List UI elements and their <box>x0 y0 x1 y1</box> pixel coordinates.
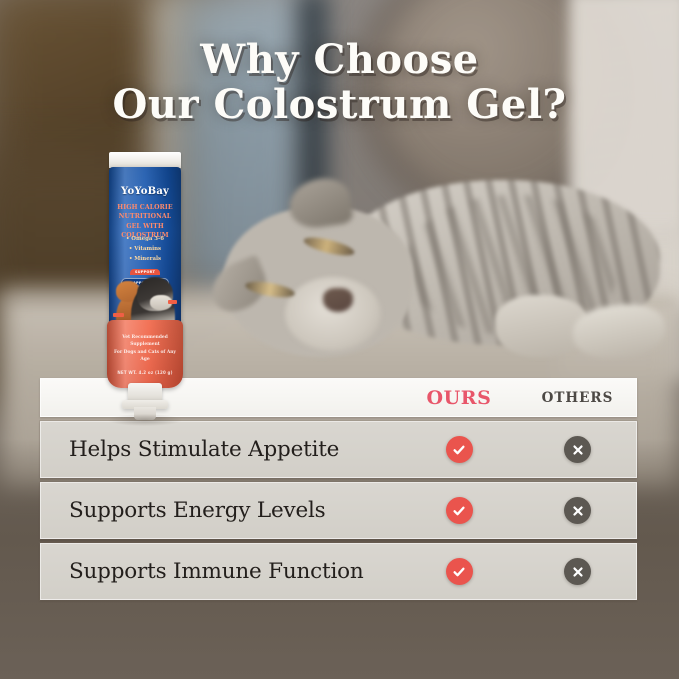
band-line-1: Vet Recommended Supplement <box>111 334 179 349</box>
tube-cat-collar <box>113 313 124 317</box>
ours-cell <box>399 497 519 524</box>
product-tube: YoYoBay HIGH CALORIE NUTRITIONAL GEL WIT… <box>104 152 186 420</box>
tube-shadow <box>108 414 182 426</box>
brand-name: YoYoBay <box>109 186 181 197</box>
check-icon <box>446 558 473 585</box>
band-line-2: For Dogs and Cats of Any Age <box>111 349 179 364</box>
tube-dog-collar <box>168 300 177 304</box>
feature-label: Supports Immune Function <box>69 559 364 584</box>
header-others-cell: OTHERS <box>519 390 636 406</box>
cross-icon <box>564 497 591 524</box>
cross-icon <box>564 436 591 463</box>
tube-top-seal <box>109 152 181 168</box>
header-ours-label: OURS <box>426 387 491 409</box>
header-ours-cell: OURS <box>399 387 519 409</box>
title-line-1: Why Choose <box>200 36 478 83</box>
others-cell <box>519 436 636 463</box>
tube-orange-band: Vet Recommended Supplement For Dogs and … <box>107 320 183 388</box>
table-row: Supports Energy Levels <box>40 482 637 539</box>
others-cell <box>519 497 636 524</box>
feature-cell: Supports Energy Levels <box>41 498 399 523</box>
table-row: Supports Immune Function <box>40 543 637 600</box>
feature-label: Helps Stimulate Appetite <box>69 437 339 462</box>
bullet-vitamins: • Vitamins <box>109 244 181 254</box>
ours-cell <box>399 558 519 585</box>
cross-icon <box>564 558 591 585</box>
header-others-label: OTHERS <box>542 390 614 406</box>
check-icon <box>446 497 473 524</box>
title-line-2: Our Colostrum Gel? <box>0 83 679 128</box>
net-weight: NET WT. 4.2 oz (120 g) <box>111 370 179 375</box>
feature-cell: Supports Immune Function <box>41 559 399 584</box>
others-cell <box>519 558 636 585</box>
page-title: Why Choose Our Colostrum Gel? <box>0 38 679 128</box>
cat-photo <box>205 185 675 385</box>
bullet-omega: • Omega 3-6 <box>109 234 181 244</box>
ours-cell <box>399 436 519 463</box>
cat-nose <box>323 288 353 312</box>
check-icon <box>446 436 473 463</box>
feature-cell: Helps Stimulate Appetite <box>41 437 399 462</box>
table-row: Helps Stimulate Appetite <box>40 421 637 478</box>
feature-label: Supports Energy Levels <box>69 498 326 523</box>
band-claim: Vet Recommended Supplement For Dogs and … <box>111 334 179 364</box>
